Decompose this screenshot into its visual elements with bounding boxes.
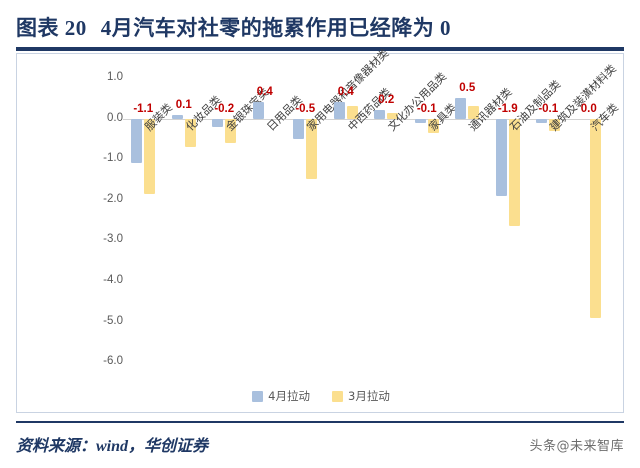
chart-legend: 4月拉动 3月拉动 xyxy=(17,388,625,404)
bar-april[interactable] xyxy=(496,119,507,196)
figure-card: 图表 20 4月汽车对社零的拖累作用已经降为 0 1.00.0-1.0-2.0-… xyxy=(0,0,640,468)
figure-title-row: 图表 20 4月汽车对社零的拖累作用已经降为 0 xyxy=(16,8,624,46)
bar-group: -0.1家具类 xyxy=(407,54,448,384)
bar-series-group: -1.1服装类0.1化妆品类-0.2金银珠宝类0.4日用品类-0.5家用电器和音… xyxy=(123,54,609,384)
bar-group: -0.2金银珠宝类 xyxy=(204,54,245,384)
chart-container: 1.00.0-1.0-2.0-3.0-4.0-5.0-6.0 -1.1服装类0.… xyxy=(16,53,624,413)
legend-swatch-icon xyxy=(252,391,263,402)
footer-divider xyxy=(16,421,624,423)
y-axis-tick-label: 1.0 xyxy=(83,72,123,83)
y-axis-tick-label: -6.0 xyxy=(83,356,123,367)
bar-group: 0.5通讯器材类 xyxy=(447,54,488,384)
bar-april[interactable] xyxy=(131,119,142,164)
bar-group: -1.1服装类 xyxy=(123,54,164,384)
legend-swatch-icon xyxy=(332,391,343,402)
bar-value-label: 0.0 xyxy=(581,103,597,115)
bar-group: 0.4中西药品类 xyxy=(326,54,367,384)
bar-group: -1.9石油及制品类 xyxy=(488,54,529,384)
y-axis-tick-label: -2.0 xyxy=(83,194,123,205)
bar-value-label: 0.4 xyxy=(338,86,354,98)
bar-group: 0.1化妆品类 xyxy=(164,54,205,384)
bar-april[interactable] xyxy=(334,102,345,118)
bar-value-label: 0.2 xyxy=(378,94,394,106)
y-axis-tick-label: -4.0 xyxy=(83,275,123,286)
bar-march[interactable] xyxy=(509,119,520,227)
page-title: 4月汽车对社零的拖累作用已经降为 0 xyxy=(101,12,451,42)
y-axis-tick-label: -5.0 xyxy=(83,316,123,327)
legend-item-march[interactable]: 3月拉动 xyxy=(332,388,390,404)
legend-item-april[interactable]: 4月拉动 xyxy=(252,388,310,404)
bar-value-label: 0.1 xyxy=(176,99,192,111)
y-axis-tick-label: 0.0 xyxy=(83,113,123,124)
bar-april[interactable] xyxy=(455,98,466,118)
bar-april[interactable] xyxy=(374,110,385,118)
legend-label-march: 3月拉动 xyxy=(348,388,390,404)
bar-march[interactable] xyxy=(590,119,601,318)
y-axis-tick-label: -3.0 xyxy=(83,234,123,245)
bar-april[interactable] xyxy=(253,102,264,118)
bar-april[interactable] xyxy=(172,115,183,119)
plot-area: 1.00.0-1.0-2.0-3.0-4.0-5.0-6.0 -1.1服装类0.… xyxy=(17,54,625,384)
bar-value-label: 0.5 xyxy=(459,82,475,94)
y-axis-tick-label: -1.0 xyxy=(83,153,123,164)
bar-group: -0.5家用电器和音像器材类 xyxy=(285,54,326,384)
title-divider xyxy=(16,47,624,51)
legend-label-april: 4月拉动 xyxy=(268,388,310,404)
bar-value-label: 0.4 xyxy=(257,86,273,98)
source-note: 资料来源：wind，华创证券 xyxy=(16,432,208,456)
bar-group: 0.0汽车类 xyxy=(569,54,610,384)
watermark: 头条@未来智库 xyxy=(529,435,624,454)
figure-footer: 资料来源：wind，华创证券 头条@未来智库 xyxy=(16,428,624,460)
bar-group: -0.1建筑及装潢材料类 xyxy=(528,54,569,384)
bar-group: 0.2文化办公用品类 xyxy=(366,54,407,384)
figure-number: 图表 20 xyxy=(16,12,87,42)
bar-group: 0.4日用品类 xyxy=(245,54,286,384)
y-axis: 1.00.0-1.0-2.0-3.0-4.0-5.0-6.0 xyxy=(79,54,123,384)
